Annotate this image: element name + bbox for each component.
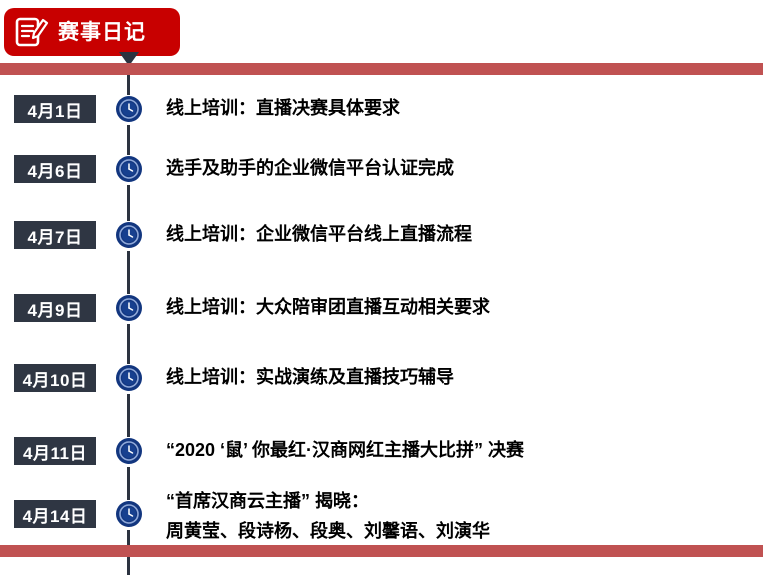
date-badge: 4月11日 — [14, 437, 96, 465]
timeline-row[interactable]: 4月9日 线上培训：大众陪审团直播互动相关要求 — [0, 294, 763, 342]
slide-canvas: 赛事日记 4月1日 线上培训：直播决赛具体要求 4月6日 — [0, 0, 763, 575]
notepad-pencil-icon — [12, 13, 50, 51]
date-badge: 4月1日 — [14, 95, 96, 123]
timeline-row-text-block: “首席汉商云主播” 揭晓： 周黄莹、段诗杨、段奥、刘馨语、刘演华 — [166, 486, 490, 546]
date-badge: 4月10日 — [14, 364, 96, 392]
timeline-row-text: 线上培训：实战演练及直播技巧辅导 — [166, 362, 454, 392]
date-badge: 4月7日 — [14, 221, 96, 249]
timeline-row[interactable]: 4月11日 “2020 ‘鼠’ 你最红·汉商网红主播大比拼” 决赛 — [0, 437, 763, 485]
date-badge: 4月6日 — [14, 155, 96, 183]
timeline-row[interactable]: 4月1日 线上培训：直播决赛具体要求 — [0, 95, 763, 143]
timeline-row[interactable]: 4月6日 选手及助手的企业微信平台认证完成 — [0, 155, 763, 203]
timeline-row-text: “2020 ‘鼠’ 你最红·汉商网红主播大比拼” 决赛 — [166, 435, 524, 465]
timeline-row-text: 选手及助手的企业微信平台认证完成 — [166, 153, 454, 183]
diary-header-tab: 赛事日记 — [4, 8, 180, 56]
clock-icon — [115, 364, 143, 392]
clock-icon — [115, 500, 143, 528]
date-badge: 4月9日 — [14, 294, 96, 322]
timeline-row-text: 线上培训：企业微信平台线上直播流程 — [166, 219, 472, 249]
timeline-row-text: 线上培训：直播决赛具体要求 — [166, 93, 400, 123]
clock-icon — [115, 294, 143, 322]
timeline-row-text: 线上培训：大众陪审团直播互动相关要求 — [166, 292, 490, 322]
clock-icon — [115, 95, 143, 123]
timeline-row[interactable]: 4月10日 线上培训：实战演练及直播技巧辅导 — [0, 364, 763, 412]
clock-icon — [115, 221, 143, 249]
header-title: 赛事日记 — [58, 22, 146, 43]
timeline-row[interactable]: 4月14日 “首席汉商云主播” 揭晓： 周黄莹、段诗杨、段奥、刘馨语、刘演华 — [0, 500, 763, 556]
date-badge: 4月14日 — [14, 500, 96, 528]
clock-icon — [115, 155, 143, 183]
clock-icon — [115, 437, 143, 465]
timeline-row-text-line2: 周黄莹、段诗杨、段奥、刘馨语、刘演华 — [166, 516, 490, 546]
timeline-row-text-line1: “首席汉商云主播” 揭晓： — [166, 491, 369, 511]
timeline-row[interactable]: 4月7日 线上培训：企业微信平台线上直播流程 — [0, 221, 763, 269]
top-red-divider — [0, 63, 763, 75]
